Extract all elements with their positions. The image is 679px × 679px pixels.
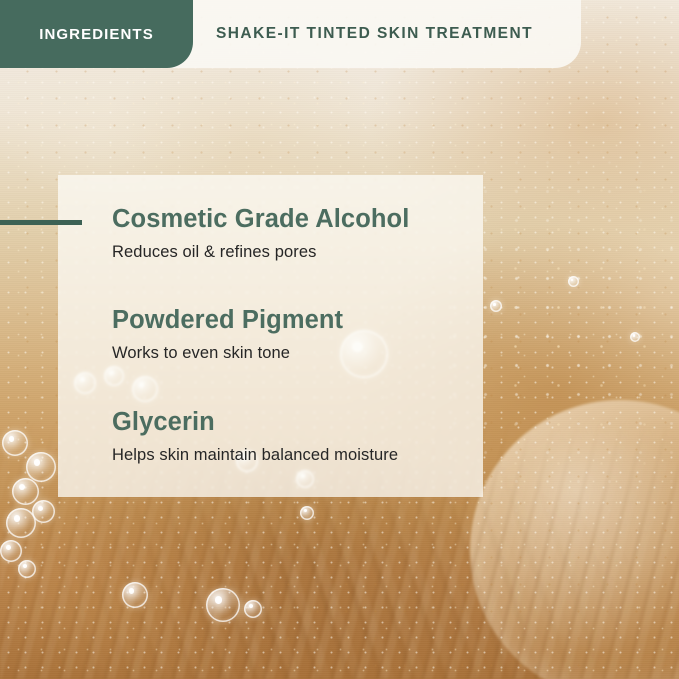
ingredients-tab-label: INGREDIENTS [39,26,154,43]
bubble [630,332,640,342]
bubble [6,508,36,538]
product-ingredients-graphic: INGREDIENTS SHAKE-IT TINTED SKIN TREATME… [0,0,679,679]
list-spacer [112,263,512,306]
ingredients-list: Cosmetic Grade Alcohol Reduces oil & ref… [112,175,512,466]
bubble [26,452,56,482]
ingredients-tab[interactable]: INGREDIENTS [0,0,193,68]
bubble [2,430,28,456]
bubble [244,600,262,618]
ingredient-name: Cosmetic Grade Alcohol [112,205,512,233]
bubble [0,540,22,562]
bubble [300,506,314,520]
bubble [32,500,55,523]
ingredient-name: Powdered Pigment [112,306,512,334]
ingredient-description: Reduces oil & refines pores [112,243,512,263]
ingredient-item: Cosmetic Grade Alcohol Reduces oil & ref… [112,205,512,263]
bubble [122,582,148,608]
product-name-container: SHAKE-IT TINTED SKIN TREATMENT [216,0,533,68]
bubble [568,276,579,287]
ingredient-description: Works to even skin tone [112,344,512,364]
ingredient-item: Powdered Pigment Works to even skin tone [112,306,512,364]
accent-dash [0,220,82,225]
ingredient-description: Helps skin maintain balanced moisture [112,446,512,466]
header-bar: INGREDIENTS SHAKE-IT TINTED SKIN TREATME… [0,0,581,68]
bubble [12,478,39,505]
bubble [206,588,240,622]
product-name-label: SHAKE-IT TINTED SKIN TREATMENT [216,25,533,43]
list-spacer [112,364,512,408]
ingredient-item: Glycerin Helps skin maintain balanced mo… [112,408,512,466]
bubble [18,560,36,578]
ingredient-name: Glycerin [112,408,512,436]
